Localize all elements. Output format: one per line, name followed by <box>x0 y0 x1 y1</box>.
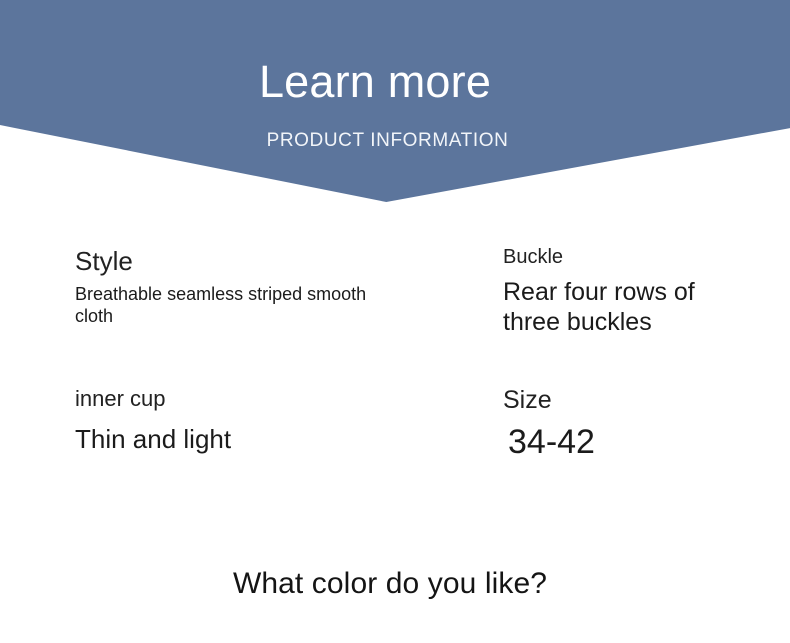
spec-value-inner-cup: Thin and light <box>75 424 475 456</box>
spec-value-style: Breathable seamless striped smooth cloth <box>75 284 375 328</box>
spec-label-style: Style <box>75 246 475 277</box>
spec-value-size: 34-42 <box>508 422 778 463</box>
hero-title: Learn more <box>0 58 750 105</box>
spec-label-buckle: Buckle <box>503 246 778 270</box>
spec-value-buckle: Rear four rows of three buckles <box>503 277 731 338</box>
spec-item-inner-cup: inner cup Thin and light <box>75 386 475 456</box>
hero-subtitle: PRODUCT INFORMATION <box>0 131 775 152</box>
spec-label-inner-cup: inner cup <box>75 386 475 412</box>
spec-item-style: Style Breathable seamless striped smooth… <box>75 246 475 328</box>
spec-item-buckle: Buckle Rear four rows of three buckles <box>503 246 778 338</box>
spec-item-size: Size 34-42 <box>503 386 778 463</box>
hero-banner: Learn more PRODUCT INFORMATION <box>0 0 790 202</box>
spec-label-size: Size <box>503 386 778 416</box>
color-question-heading: What color do you like? <box>0 566 780 602</box>
product-information-page: Learn more PRODUCT INFORMATION Style Bre… <box>0 0 790 643</box>
